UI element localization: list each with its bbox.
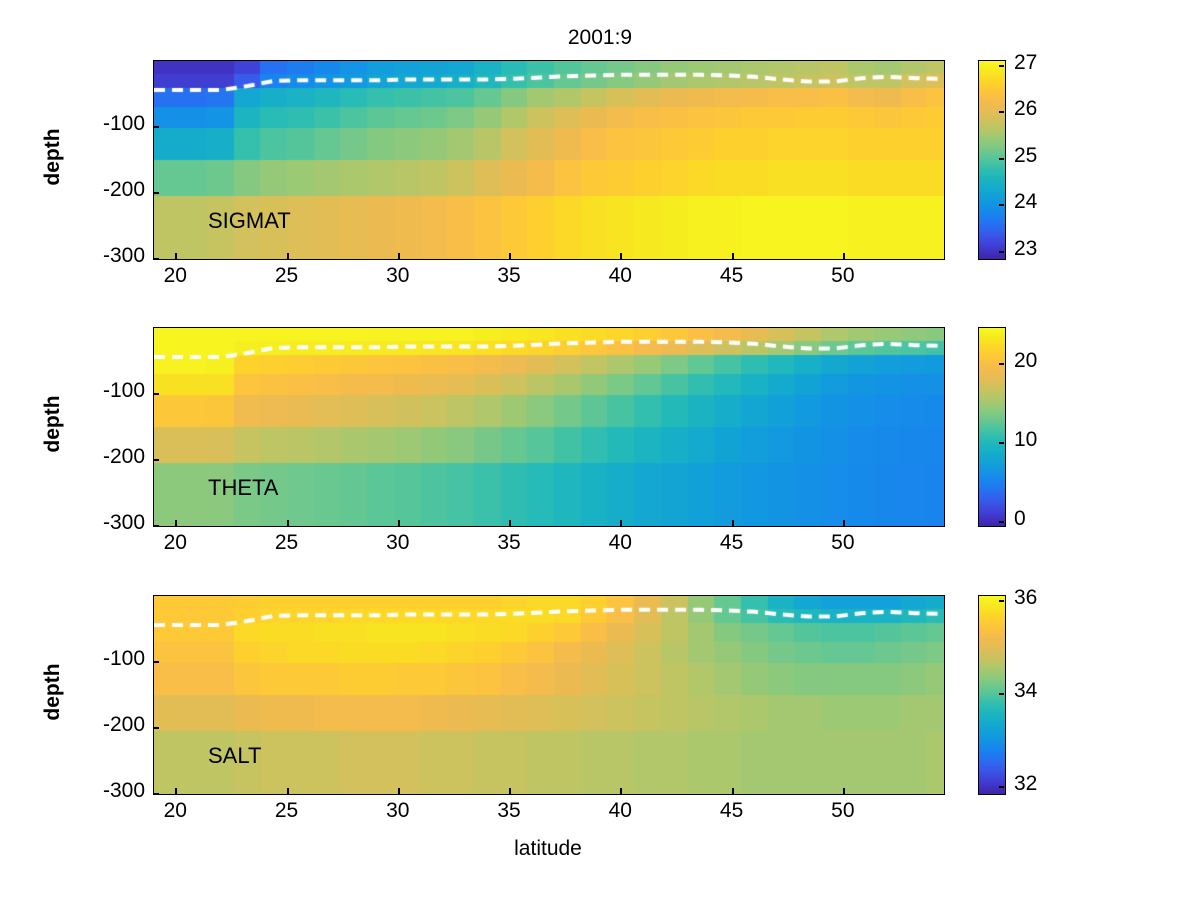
colorbar-sigmat (978, 60, 1006, 260)
plot-area-salt (153, 595, 945, 795)
colorbar-gradient (979, 596, 1005, 794)
figure-title: 2001:9 (0, 26, 1200, 50)
colorbar-tick-mark (999, 521, 1004, 523)
x-tick-label: 40 (580, 264, 660, 288)
colorbar-gradient (979, 61, 1005, 259)
y-axis-label: depth (41, 364, 65, 484)
y-tick-label: -300 (53, 244, 145, 268)
y-tick-mark (153, 192, 159, 194)
x-tick-mark (843, 520, 845, 526)
x-tick-mark (620, 520, 622, 526)
x-tick-mark (175, 520, 177, 526)
colorbar-gradient (979, 328, 1005, 526)
x-tick-mark (843, 253, 845, 259)
y-tick-label: -300 (53, 511, 145, 535)
x-tick-mark (509, 520, 511, 526)
colorbar-tick-mark (999, 442, 1004, 444)
y-tick-mark (153, 793, 159, 795)
x-tick-label: 50 (803, 531, 883, 555)
x-tick-label: 30 (358, 531, 438, 555)
panel-label-salt: SALT (208, 743, 261, 769)
x-tick-mark (398, 253, 400, 259)
panel-label-theta: THETA (208, 475, 278, 501)
y-tick-label: -100 (53, 379, 145, 403)
panel-salt (153, 595, 943, 793)
x-tick-mark (287, 520, 289, 526)
y-axis-label: depth (41, 97, 65, 217)
x-tick-label: 25 (247, 531, 327, 555)
y-tick-label: -200 (53, 445, 145, 469)
y-tick-mark (153, 525, 159, 527)
x-tick-mark (732, 253, 734, 259)
colorbar-tick-mark (999, 600, 1004, 602)
x-tick-label: 45 (692, 264, 772, 288)
colorbar-tick-label: 27 (1014, 51, 1037, 75)
figure-canvas: 2001:9 latitude SIGMAT-100-200-300202530… (0, 0, 1200, 900)
y-tick-label: -300 (53, 779, 145, 803)
panel-label-sigmat: SIGMAT (208, 208, 291, 234)
x-tick-mark (287, 788, 289, 794)
colorbar-tick-mark (999, 65, 1004, 67)
x-tick-mark (509, 253, 511, 259)
x-tick-label: 20 (135, 799, 215, 823)
x-tick-label: 35 (469, 264, 549, 288)
y-tick-mark (153, 727, 159, 729)
colorbar-tick-label: 0 (1014, 507, 1026, 531)
x-tick-mark (398, 788, 400, 794)
y-tick-mark (153, 126, 159, 128)
x-tick-mark (732, 788, 734, 794)
colorbar-tick-label: 25 (1014, 144, 1037, 168)
x-tick-mark (620, 253, 622, 259)
heatmap-salt (154, 596, 944, 794)
x-tick-mark (620, 788, 622, 794)
colorbar-tick-mark (999, 204, 1004, 206)
x-tick-label: 40 (580, 799, 660, 823)
colorbar-tick-label: 20 (1014, 349, 1037, 373)
colorbar-tick-mark (999, 786, 1004, 788)
colorbar-tick-mark (999, 693, 1004, 695)
x-tick-mark (843, 788, 845, 794)
x-tick-label: 45 (692, 531, 772, 555)
colorbar-tick-mark (999, 251, 1004, 253)
y-tick-mark (153, 258, 159, 260)
x-tick-mark (509, 788, 511, 794)
colorbar-tick-label: 26 (1014, 97, 1037, 121)
y-tick-label: -200 (53, 713, 145, 737)
x-axis-label: latitude (153, 837, 943, 861)
y-tick-label: -200 (53, 178, 145, 202)
x-tick-mark (398, 520, 400, 526)
x-tick-label: 25 (247, 799, 327, 823)
x-tick-label: 50 (803, 799, 883, 823)
colorbar-tick-label: 32 (1014, 772, 1037, 796)
colorbar-tick-label: 24 (1014, 190, 1037, 214)
colorbar-tick-mark (999, 158, 1004, 160)
y-tick-mark (153, 661, 159, 663)
x-tick-label: 40 (580, 531, 660, 555)
colorbar-tick-label: 10 (1014, 428, 1037, 452)
x-tick-label: 50 (803, 264, 883, 288)
colorbar-theta (978, 327, 1006, 527)
y-tick-label: -100 (53, 647, 145, 671)
x-tick-label: 20 (135, 264, 215, 288)
colorbar-tick-label: 34 (1014, 679, 1037, 703)
x-tick-label: 30 (358, 264, 438, 288)
x-tick-label: 45 (692, 799, 772, 823)
x-tick-mark (732, 520, 734, 526)
x-tick-mark (175, 788, 177, 794)
x-tick-label: 25 (247, 264, 327, 288)
colorbar-tick-label: 23 (1014, 237, 1037, 261)
x-tick-label: 35 (469, 531, 549, 555)
x-tick-label: 20 (135, 531, 215, 555)
x-tick-mark (175, 253, 177, 259)
y-tick-label: -100 (53, 112, 145, 136)
colorbar-tick-mark (999, 363, 1004, 365)
x-tick-mark (287, 253, 289, 259)
x-tick-label: 30 (358, 799, 438, 823)
x-tick-label: 35 (469, 799, 549, 823)
y-tick-mark (153, 393, 159, 395)
colorbar-tick-mark (999, 111, 1004, 113)
y-axis-label: depth (41, 632, 65, 752)
y-tick-mark (153, 459, 159, 461)
colorbar-salt (978, 595, 1006, 795)
colorbar-tick-label: 36 (1014, 586, 1037, 610)
